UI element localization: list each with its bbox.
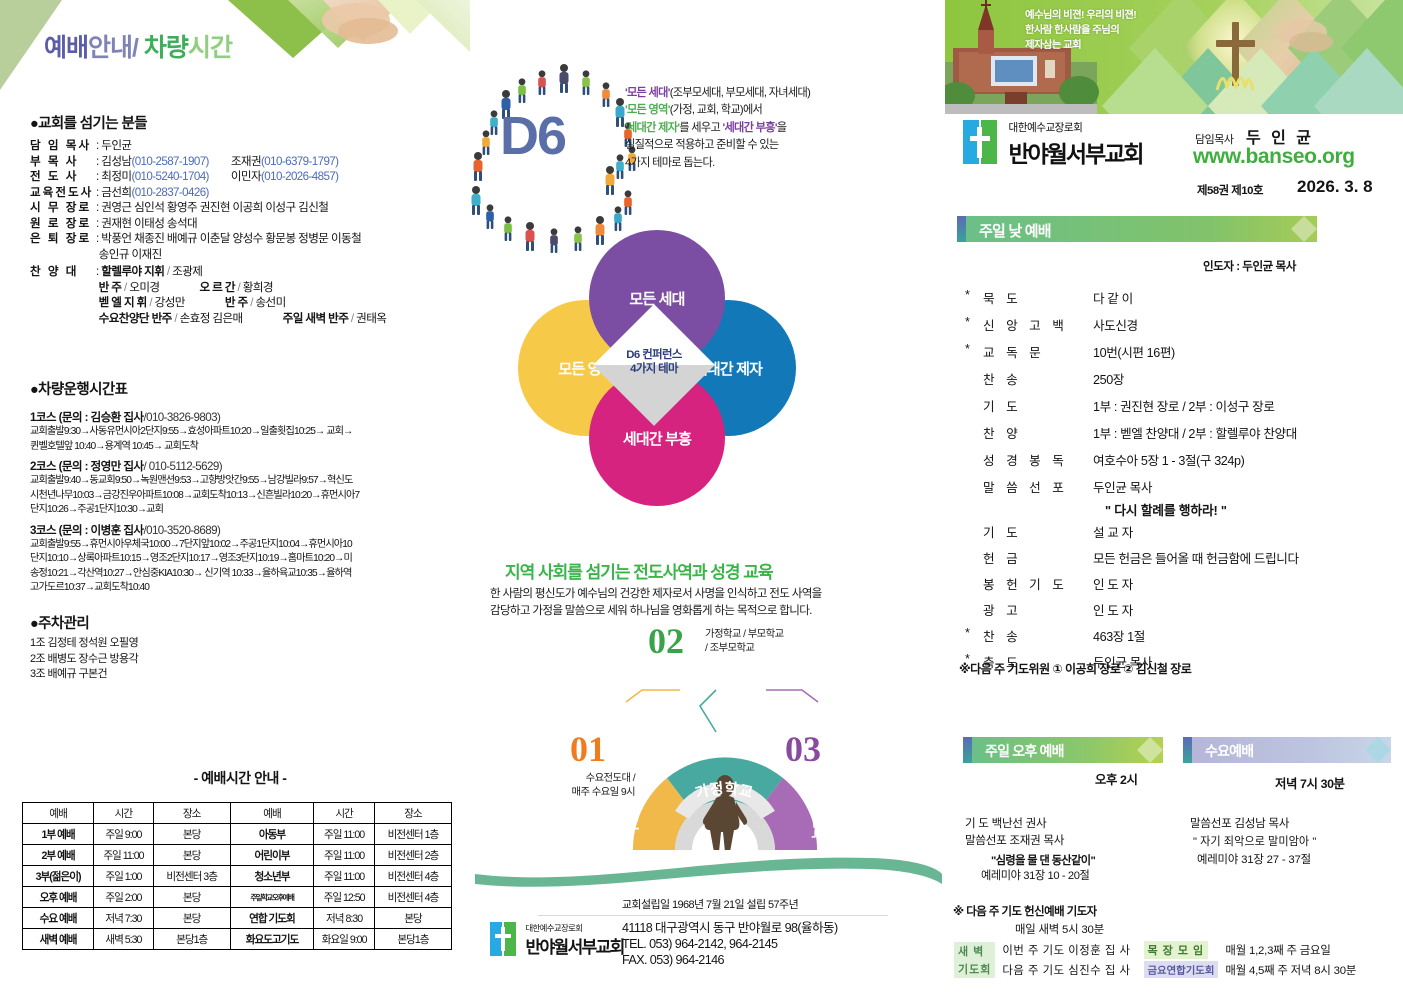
- worship-table-header-row: 예배시간장소예배시간장소: [23, 803, 452, 824]
- ministry-section-heading: 지역 사회를 섬기는 전도사역과 성경 교육: [505, 558, 773, 583]
- bus-course-contact-name: 정영만 집사: [91, 460, 144, 473]
- worship-table-cell: 1부 예배: [23, 824, 94, 845]
- d6-logo: D6: [500, 105, 565, 167]
- vision-line1: 예수님의 비젼! 우리의 비젼!: [1025, 8, 1136, 23]
- worship-order-value: 463장 1절: [1093, 626, 1145, 645]
- dawn-chip-line1: 새 벽: [954, 942, 995, 960]
- staff-row-value: 김성남(010-2587-1907): [101, 155, 209, 168]
- worship-order-value: 인 도 자: [1093, 600, 1133, 619]
- venn-diagram: 모든 영역 세대간 제자 모든 세대 세대간 부흥 D6 컨퍼런스 4가지 테마: [510, 220, 840, 530]
- parking-heading: ●주차관리: [30, 612, 138, 633]
- staff-row-value: 두인균: [101, 139, 131, 152]
- worship-table-cell: 주일 2:00: [94, 887, 153, 908]
- worship-table-cell: 새벽 예배: [23, 929, 94, 950]
- bus-course-contact-name: 이병훈 집사: [91, 524, 144, 537]
- worship-table-cell: 주일 1:00: [94, 866, 153, 887]
- worship-table-cell: 연합 기도회: [230, 908, 314, 929]
- worship-table-header-cell: 장소: [374, 803, 451, 824]
- banner-hands-graphic: [228, 0, 470, 90]
- ministry-body-line2: 감당하고 가정을 말씀으로 세워 하나님을 영화롭게 하는 목적으로 합니다.: [490, 602, 940, 619]
- choir-role: 반 주: [99, 281, 122, 294]
- bus-course-phone: /010-3520-8689): [143, 524, 220, 537]
- staff-row-value: 권영근 심인석 황영주 권진현 이공희 이성구 김신철: [101, 201, 328, 214]
- worship-table-cell: 본당: [153, 845, 230, 866]
- choir-rows: 찬 양 대: 할렐루야 지휘 / 조광제 반 주 / 오미경오 르 간 / 황희…: [30, 264, 386, 326]
- middle-column: D6 '모든 세대'(조부모세대, 부모세대, 자녀세대)'모든 영역'(가정,…: [470, 0, 945, 992]
- church-website: www.banseo.org: [1193, 145, 1355, 169]
- worship-table-row: 새벽 예배새벽 5:30본당1층화요도고기도화요일 9:00본당1층: [23, 929, 452, 950]
- choir-person-2: 권태옥: [356, 312, 386, 325]
- worship-table-cell: 오후 예배: [23, 887, 94, 908]
- worship-table-cell: 비전센터 4층: [374, 887, 451, 908]
- bus-route-line: 교회출발9:30→사동유먼시아2단지9:55→효성아파트10:20→일출횟집10…: [30, 425, 359, 440]
- church-established: 교회설립일 1968년 7월 21일 설립 57주년: [510, 896, 910, 912]
- issue-number: 제58권 제10호: [1197, 182, 1263, 198]
- person-figure-icon: [474, 152, 483, 181]
- bar-diamond-sunday: [1291, 216, 1317, 242]
- worship-table-row: 오후 예배주일 2:00본당주일학교오후예배주일 12:50비전센터 4층: [23, 887, 452, 908]
- ring-caption-02: 가정학교 / 부모학교 / 조부모학교: [705, 628, 885, 656]
- staff-row-extra: 조재권(010-6379-1797): [231, 155, 339, 168]
- worship-table-cell: 주일 9:00: [94, 824, 153, 845]
- person-figure-icon: [486, 204, 494, 229]
- staff-row: 담 임 목사: 두인균: [30, 138, 386, 154]
- choir-slash-2: /: [348, 312, 356, 325]
- worship-table-cell: 3부(젊은이): [23, 866, 94, 887]
- choir-row: 찬 양 대: 할렐루야 지휘 / 조광제: [30, 264, 386, 280]
- worship-table-cell: 화요일 9:00: [314, 929, 375, 950]
- worship-order-name: 교 독 문: [983, 342, 1091, 361]
- worship-table-header-cell: 예배: [23, 803, 94, 824]
- bar-tab-sunday: [957, 216, 966, 242]
- person-figure-icon: [472, 186, 481, 215]
- ring-number-01: 01: [570, 728, 606, 770]
- worship-table-cell: 비전센터 1층: [374, 824, 451, 845]
- d6-description-segment: '세대간 제자': [625, 122, 679, 134]
- afternoon-sermon-verse: 예레미야 31장 10 - 20절: [981, 867, 1089, 883]
- worship-table-header-cell: 시간: [94, 803, 153, 824]
- worship-order-asterisk: *: [965, 288, 970, 302]
- staff-row-value: 금선희(010-2837-0426): [101, 186, 209, 199]
- worship-table-cell: 본당: [153, 824, 230, 845]
- worship-table-cell: 본당: [153, 887, 230, 908]
- staff-heading: ●교회를 섬기는 분들: [30, 112, 386, 133]
- person-figure-icon: [602, 82, 610, 107]
- worship-order-value: 1부 : 권진현 장로 / 2부 : 이성구 장로: [1093, 396, 1275, 415]
- bus-route-line: 시천년나무10:03→금강진우아파트10:08→교회도착10:13→신흔빌라10…: [30, 489, 359, 504]
- bus-route-line: 고가도르10:37→교회도착10:40: [30, 581, 359, 596]
- d6-description-line: '세대간 제자'를 세우고 '세대간 부흥'을: [625, 120, 810, 137]
- worship-order-name: 찬 송: [983, 626, 1091, 645]
- choir-row: 반 주 / 오미경오 르 간 / 황희경: [30, 280, 386, 296]
- parking-row: 2조 배병도 장수근 방용각: [30, 652, 138, 668]
- afternoon-worship-time: 오후 2시: [1095, 770, 1138, 788]
- d6-description-segment: '모든 세대': [625, 87, 670, 99]
- staff-row-label: 전 도 사: [30, 169, 96, 185]
- bus-heading: ●차량운행시간표: [30, 378, 359, 399]
- d6-description-line: '모든 세대'(조부모세대, 부모세대, 자녀세대): [625, 85, 810, 102]
- wednesday-order-lines: 말씀선포 김성남 목사: [1190, 815, 1289, 832]
- bus-course-header: 2코스 (문의 : 정영만 집사/ 010-5112-5629): [30, 458, 359, 474]
- choir-row: 벧 엘 지 휘 / 강성만반 주 / 송선미: [30, 295, 386, 311]
- bus-course-contact-label: (문의 :: [59, 411, 91, 424]
- friday-value: 매월 4,5째 주 저녁 8시 30분: [1224, 960, 1357, 979]
- brand-row: 대한예수교장로회 반야월서부교회: [963, 120, 1143, 169]
- worship-table-cell: 주일 11:00: [94, 845, 153, 866]
- choir-section-label: 찬 양 대: [30, 264, 96, 280]
- venn-label-top: 모든 세대: [629, 288, 684, 309]
- worship-table-cell: 아동부: [230, 824, 314, 845]
- worship-order-asterisk: *: [965, 626, 970, 640]
- worship-order-name: 봉 헌 기 도: [983, 574, 1091, 593]
- bus-course-phone: /010-3826-9803): [143, 411, 220, 424]
- bus-route-line: 교회출발9:55→휴먼시아우체국10:00→7단지앞10:02→주공1단지10:…: [30, 538, 359, 553]
- staff-row-value: 송인규 이재진: [99, 248, 162, 261]
- title-part-4: 시간: [188, 34, 232, 62]
- staff-row-value: 권재현 이태성 송석대: [101, 217, 197, 230]
- footer-church-name: 반야월서부교회: [525, 933, 623, 958]
- logo-cross-vertical: [501, 927, 505, 951]
- ring-number-02: 02: [648, 620, 684, 662]
- choir-slash-2: /: [235, 281, 243, 294]
- worship-order-name: 찬 송: [983, 369, 1091, 388]
- staff-row: 송인규 이재진: [30, 247, 386, 263]
- ring-number-03: 03: [785, 728, 821, 770]
- title-part-1: 예배: [44, 34, 88, 62]
- vision-statement: 예수님의 비젼! 우리의 비젼! 한사람 한사람을 주님의 제자삼는 교회: [1025, 8, 1136, 53]
- choir-role: 벧 엘 지 휘: [99, 296, 147, 309]
- ring-caption-02-line2: / 조부모학교: [705, 642, 885, 656]
- d6-description-line: '모든 영역'(가정, 교회, 학교)에서: [625, 102, 810, 119]
- worship-table-cell: 본당1층: [153, 929, 230, 950]
- worship-order-name: 기 도: [983, 396, 1091, 415]
- wednesday-sermon-title: " 자기 죄악으로 말미암아 ": [1193, 833, 1316, 849]
- staff-row: 전 도 사: 최정미(010-5240-1704)이민자(010-2026-48…: [30, 169, 386, 185]
- person-figure-icon: [518, 78, 526, 103]
- worship-table-header-cell: 예배: [230, 803, 314, 824]
- staff-row: 은 퇴 장로: 박풍언 채종진 배예규 이춘달 양성수 황문봉 정병문 이동철: [30, 231, 386, 247]
- logo-green-panel: [504, 922, 516, 956]
- vision-line2: 한사람 한사람을 주님의: [1025, 23, 1136, 38]
- worship-time-section: - 예배시간 안내 - 예배시간장소예배시간장소1부 예배주일 9:00본당아동…: [22, 768, 458, 950]
- staff-row: 교육전도사: 금선희(010-2837-0426): [30, 185, 386, 201]
- choir-role-2: 오 르 간: [199, 281, 234, 294]
- person-figure-icon: [482, 130, 490, 155]
- ring-diagram: 수요전도대 가정학교 새가족이양성교육 01 수요전도대 / 매주 수요일 9시…: [530, 640, 920, 850]
- worship-table-cell: 주일학교오후예배: [230, 887, 314, 908]
- worship-table-cell: 주일 11:00: [314, 845, 375, 866]
- worship-table-cell: 주일 11:00: [314, 866, 375, 887]
- dawn-row-next-week: 다음 주 기도 심진수 집 사: [1001, 960, 1142, 979]
- ring-caption-01: 수요전도대 / 매주 수요일 9시: [525, 772, 635, 800]
- sunday-worship-bar: 주일 낮 예배: [957, 216, 1317, 242]
- person-figure-icon: [616, 154, 624, 179]
- bar-diamond-afternoon: [1137, 737, 1163, 763]
- footer-tel: TEL. 053) 964-2142, 964-2145: [622, 936, 838, 952]
- bus-route-line: 단지10:26→주공1단지10:30→교회: [30, 503, 359, 518]
- choir-role-2: 반 주: [225, 296, 248, 309]
- afternoon-sermon-title: "심령을 물 댄 동산같이": [991, 852, 1095, 868]
- sunday-worship-title: 주일 낮 예배: [979, 220, 1051, 241]
- parking-rows: 1조 김정테 정석원 오필영2조 배병도 장수근 방용각3조 배예규 구본건: [30, 636, 138, 683]
- afternoon-order-lines: 기 도 백난선 권사 말씀선포 조재권 목사: [965, 815, 1064, 849]
- bus-section: ●차량운행시간표 1코스 (문의 : 김승환 집사/010-3826-9803)…: [30, 378, 359, 596]
- person-figure-icon: [616, 98, 625, 127]
- worship-table-cell: 본당: [153, 908, 230, 929]
- choir-person: 손효정 김은매: [180, 312, 243, 325]
- worship-order-value: 두인균 목사: [1093, 477, 1152, 496]
- d6-description-segment: 을: [777, 122, 787, 134]
- ring-caption-02-line1: 가정학교 / 부모학교: [705, 628, 885, 642]
- bus-course-contact-label: (문의 :: [59, 524, 91, 537]
- bus-course-phone: / 010-5112-5629): [143, 460, 222, 473]
- left-column: 예배안내/ 차량시간 ●교회를 섬기는 분들 담 임 목사: 두인균부 목 사:…: [0, 0, 470, 992]
- worship-table-cell: 비전센터 3층: [153, 866, 230, 887]
- worship-table-row: 3부(젊은이)주일 1:00비전센터 3층청소년부주일 11:00비전센터 4층: [23, 866, 452, 887]
- dawn-prayer-table: 새 벽 기도회 이번 주 기도 이정훈 집 사 목 장 모 임 매월 1,2,3…: [953, 940, 1393, 979]
- ring-caption-01-line1: 수요전도대 /: [525, 772, 635, 786]
- bus-course-no: 1코스: [30, 411, 59, 424]
- worship-order-value: 250장: [1093, 369, 1124, 388]
- venn-center-line1: D6 컨퍼런스: [609, 348, 699, 362]
- church-name: 반야월서부교회: [1008, 135, 1142, 169]
- venn-center-line2: 4가지 테마: [609, 362, 699, 376]
- worship-table-cell: 새벽 5:30: [94, 929, 153, 950]
- worship-order-asterisk: *: [965, 342, 970, 356]
- staff-row-label: 원 로 장로: [30, 216, 96, 232]
- footer-address-line1: 41118 대구광역시 동구 반야월로 98(율하동): [622, 920, 838, 936]
- page-title: 예배안내/ 차량시간: [44, 28, 232, 64]
- d6-description-segment: 4가지 테마로 돕는다.: [625, 157, 715, 169]
- staff-section: ●교회를 섬기는 분들 담 임 목사: 두인균부 목 사: 김성남(010-25…: [30, 112, 386, 326]
- worship-table-cell: 2부 예배: [23, 845, 94, 866]
- bus-route-line: 퀸벨호텔앞 10:40→용계역 10:45→ 교회도착: [30, 440, 359, 455]
- worship-table-cell: 저녁 8:30: [314, 908, 375, 929]
- bus-course-header: 1코스 (문의 : 김승환 집사/010-3826-9803): [30, 409, 359, 425]
- green-wave-divider: [470, 852, 945, 892]
- bus-course-no: 2코스: [30, 460, 59, 473]
- friday-chip: 금요연합기도회: [1144, 961, 1219, 978]
- afternoon-worship-title: 주일 오후 예배: [985, 741, 1064, 761]
- worship-table-cell: 본당1층: [374, 929, 451, 950]
- staff-row-label: 부 목 사: [30, 154, 96, 170]
- choir-role: 할렐루야 지휘: [101, 265, 164, 278]
- worship-order-asterisk: *: [965, 315, 970, 329]
- worship-table-row: 1부 예배주일 9:00본당아동부주일 11:00비전센터 1층: [23, 824, 452, 845]
- staff-rows: 담 임 목사: 두인균부 목 사: 김성남(010-2587-1907)조재권(…: [30, 138, 386, 262]
- choir-row: 수요찬양단 반주 / 손효정 김은매주일 새벽 반주 / 권태옥: [30, 311, 386, 327]
- choir-slash: /: [164, 265, 172, 278]
- denomination-label: 대한예수교장로회: [1008, 120, 1142, 135]
- d6-description: '모든 세대'(조부모세대, 부모세대, 자녀세대)'모든 영역'(가정, 교회…: [625, 85, 810, 172]
- afternoon-order-line-1: 말씀선포 조재권 목사: [965, 832, 1064, 849]
- bus-course-contact-label: (문의 :: [59, 460, 91, 473]
- worship-table-cell: 본당: [374, 908, 451, 929]
- d6-description-segment: 실질적으로 적용하고 준비할 수 있는: [625, 139, 779, 151]
- person-figure-icon: [606, 166, 615, 195]
- staff-row-value: 최정미(010-5240-1704): [101, 170, 209, 183]
- worship-table-cell: 저녁 7:30: [94, 908, 153, 929]
- wednesday-worship-bar: 수요예배: [1183, 737, 1391, 763]
- worship-order-name: 말 씀 선 포: [983, 477, 1091, 496]
- worship-order-value: 설 교 자: [1093, 522, 1133, 541]
- ministry-body-line1: 한 사람의 평신도가 예수님의 건강한 제자로서 사명을 인식하고 전도 사역을: [490, 585, 940, 602]
- choir-person: 강성만: [155, 296, 185, 309]
- logo-green-panel-main: [981, 120, 997, 164]
- right-column: 예수님의 비젼! 우리의 비젼! 한사람 한사람을 주님의 제자삼는 교회 대한…: [945, 0, 1403, 992]
- bar-tab-wednesday: [1183, 737, 1192, 763]
- ministry-section-body: 한 사람의 평신도가 예수님의 건강한 제자로서 사명을 인식하고 전도 사역을…: [490, 585, 940, 619]
- worship-table-cell: 비전센터 2층: [374, 845, 451, 866]
- worship-order-value: 여호수아 5장 1 - 3절(구 324p): [1093, 450, 1244, 469]
- sunday-sermon-title: " 다시 할례를 행하라! ": [1105, 500, 1227, 519]
- issue-date: 2026. 3. 8: [1297, 177, 1373, 197]
- meeting-value: 매월 1,2,3째 주 금요일: [1224, 940, 1357, 960]
- wednesday-worship-title: 수요예배: [1205, 741, 1253, 761]
- vision-line3: 제자삼는 교회: [1025, 38, 1136, 53]
- choir-person: 조광제: [172, 265, 202, 278]
- church-logo-icon-main: [963, 120, 997, 164]
- worship-order-name: 묵 도: [983, 288, 1091, 307]
- bus-route-line: 단지10:10→상록아파트10:15→영조2단지10:17→영조3단지10:19…: [30, 552, 359, 567]
- venn-label-bottom: 세대간 부흥: [623, 428, 691, 449]
- worship-order-name: 기 도: [983, 522, 1091, 541]
- worship-table-title: - 예배시간 안내 -: [22, 768, 458, 788]
- staff-row-extra: 이민자(010-2026-4857): [231, 170, 339, 183]
- worship-order-value: 모든 헌금은 들어올 때 헌금함에 드립니다: [1093, 548, 1299, 567]
- worship-table-cell: 비전센터 4층: [374, 866, 451, 887]
- bus-course-no: 3코스: [30, 524, 59, 537]
- footer-fax: FAX. 053) 964-2146: [622, 952, 838, 968]
- staff-row-label: 은 퇴 장로: [30, 231, 96, 247]
- footer-logo-block: 대한예수교장로회 반야월서부교회: [490, 922, 624, 958]
- logo-cross-horizontal: [495, 934, 511, 938]
- worship-order-value: 다 같 이: [1093, 288, 1133, 307]
- parking-section: ●주차관리 1조 김정테 정석원 오필영2조 배병도 장수근 방용각3조 배예규…: [30, 612, 138, 683]
- wednesday-worship-time: 저녁 7시 30분: [1275, 774, 1345, 792]
- worship-time-table: 예배시간장소예배시간장소1부 예배주일 9:00본당아동부주일 11:00비전센…: [22, 802, 452, 950]
- parking-row: 3조 배예규 구본건: [30, 667, 138, 683]
- worship-order-name: 성 경 봉 독: [983, 450, 1091, 469]
- choir-role: 수요찬양단 반주: [99, 312, 172, 325]
- worship-table-row: 수요 예배저녁 7:30본당연합 기도회저녁 8:30본당: [23, 908, 452, 929]
- bus-route-line: 송정10:21→각산역10:27→안심중KIA10:30→ 신기역 10:33→…: [30, 567, 359, 582]
- bar-diamond-wednesday: [1365, 737, 1391, 763]
- title-part-3: 차량: [144, 34, 188, 62]
- dawn-chip-line2: 기도회: [954, 960, 995, 978]
- person-figure-icon: [582, 70, 590, 95]
- worship-order-name: 신 앙 고 백: [983, 315, 1091, 334]
- worship-order-value: 10번(시편 16편): [1093, 342, 1175, 361]
- d6-description-segment: (가정, 교회, 학교)에서: [670, 104, 762, 116]
- staff-row-value: 박풍언 채종진 배예규 이춘달 양성수 황문봉 정병문 이동철: [101, 232, 361, 245]
- next-week-prayer-note: ※ 다음 주 기도 헌신예배 기도자: [953, 903, 1097, 919]
- worship-order-value: 사도신경: [1093, 315, 1138, 334]
- choir-person-2: 황희경: [243, 281, 273, 294]
- staff-row: 시 무 장로: 권영근 심인석 황영주 권진현 이공희 이성구 김신철: [30, 200, 386, 216]
- left-banner: 예배안내/ 차량시간: [0, 0, 470, 90]
- sunday-worship-leader: 인도자 : 두인균 목사: [1203, 258, 1296, 274]
- worship-table-cell: 어린이부: [230, 845, 314, 866]
- person-figure-icon: [538, 70, 546, 95]
- worship-table-cell: 주일 12:50: [314, 887, 375, 908]
- person-figure-icon: [560, 64, 569, 93]
- d6-description-line: 4가지 테마로 돕는다.: [625, 155, 810, 172]
- worship-table-cell: 화요도고기도: [230, 929, 314, 950]
- venn-center-label: D6 컨퍼런스 4가지 테마: [609, 348, 699, 376]
- bus-course-header: 3코스 (문의 : 이병훈 집사/010-3520-8689): [30, 522, 359, 538]
- title-part-2: 안내/: [88, 34, 144, 62]
- logo-cross-vertical-main: [977, 127, 982, 158]
- worship-table-cell: 주일 11:00: [314, 824, 375, 845]
- footer-address: 41118 대구광역시 동구 반야월로 98(율하동) TEL. 053) 96…: [622, 920, 838, 968]
- d6-description-segment: 를 세우고: [679, 122, 722, 134]
- d6-description-segment: '세대간 부흥': [722, 122, 776, 134]
- afternoon-worship-bar: 주일 오후 예배: [963, 737, 1163, 763]
- choir-person: 오미경: [129, 281, 159, 294]
- choir-slash: /: [172, 312, 180, 325]
- staff-row-label: 교육전도사: [30, 185, 96, 201]
- worship-order-name: 광 고: [983, 600, 1091, 619]
- next-week-prayer-committee: ※다음 주 기도위원 ① 이공희 장로 ② 김신철 장로: [959, 660, 1191, 677]
- logo-cross-horizontal-main: [970, 136, 990, 141]
- worship-order-value: 인 도 자: [1093, 574, 1133, 593]
- staff-row: 원 로 장로: 권재현 이태성 송석대: [30, 216, 386, 232]
- choir-slash: /: [147, 296, 155, 309]
- afternoon-order-line-0: 기 도 백난선 권사: [965, 815, 1064, 832]
- d6-description-segment: (조부모세대, 부모세대, 자녀세대): [670, 87, 810, 99]
- worship-table-row: 2부 예배주일 11:00본당어린이부주일 11:00비전센터 2층: [23, 845, 452, 866]
- daily-dawn-time: 매일 새벽 5시 30분: [1015, 921, 1104, 937]
- bus-courses: 1코스 (문의 : 김승환 집사/010-3826-9803)교회출발9:30→…: [30, 409, 359, 596]
- bar-tab-afternoon: [963, 737, 972, 763]
- choir-person-2: 송선미: [255, 296, 285, 309]
- d6-description-line: 실질적으로 적용하고 준비할 수 있는: [625, 137, 810, 154]
- choir-role-2: 주일 새벽 반주: [283, 312, 349, 325]
- parking-row: 1조 김정테 정석원 오필영: [30, 636, 138, 652]
- ring-caption-01-line2: 매주 수요일 9시: [525, 786, 635, 800]
- staff-row: 부 목 사: 김성남(010-2587-1907)조재권(010-6379-17…: [30, 154, 386, 170]
- worship-table-header-cell: 시간: [314, 803, 375, 824]
- footer-divider: [538, 915, 888, 916]
- staff-row-label: 담 임 목사: [30, 138, 96, 154]
- worship-order-name: 찬 양: [983, 423, 1091, 442]
- church-logo-icon: [490, 922, 516, 956]
- wednesday-order-line-0: 말씀선포 김성남 목사: [1190, 815, 1289, 832]
- worship-order-value: 1부 : 벧엘 찬양대 / 2부 : 할렐루야 찬양대: [1093, 423, 1297, 442]
- worship-order-name: 헌 금: [983, 548, 1091, 567]
- person-figure-icon: [624, 190, 632, 215]
- staff-row-label: 시 무 장로: [30, 200, 96, 216]
- bus-course-contact-name: 김승환 집사: [91, 411, 144, 424]
- bus-route-line: 교회출발9:40→동교회9:50→녹원맨션9:53→고향방앗간9:55→남강빌라…: [30, 474, 359, 489]
- wednesday-sermon-verse: 예레미야 31장 27 - 37절: [1197, 851, 1311, 867]
- worship-table-cell: 청소년부: [230, 866, 314, 887]
- banner-diamond-svg: [228, 0, 470, 90]
- dawn-row-this-week: 이번 주 기도 이정훈 집 사: [1001, 940, 1142, 960]
- person-figure-icon: [490, 110, 498, 135]
- worship-table-cell: 수요 예배: [23, 908, 94, 929]
- d6-description-segment: '모든 영역': [625, 104, 670, 116]
- meeting-chip: 목 장 모 임: [1144, 941, 1209, 959]
- worship-table-header-cell: 장소: [153, 803, 230, 824]
